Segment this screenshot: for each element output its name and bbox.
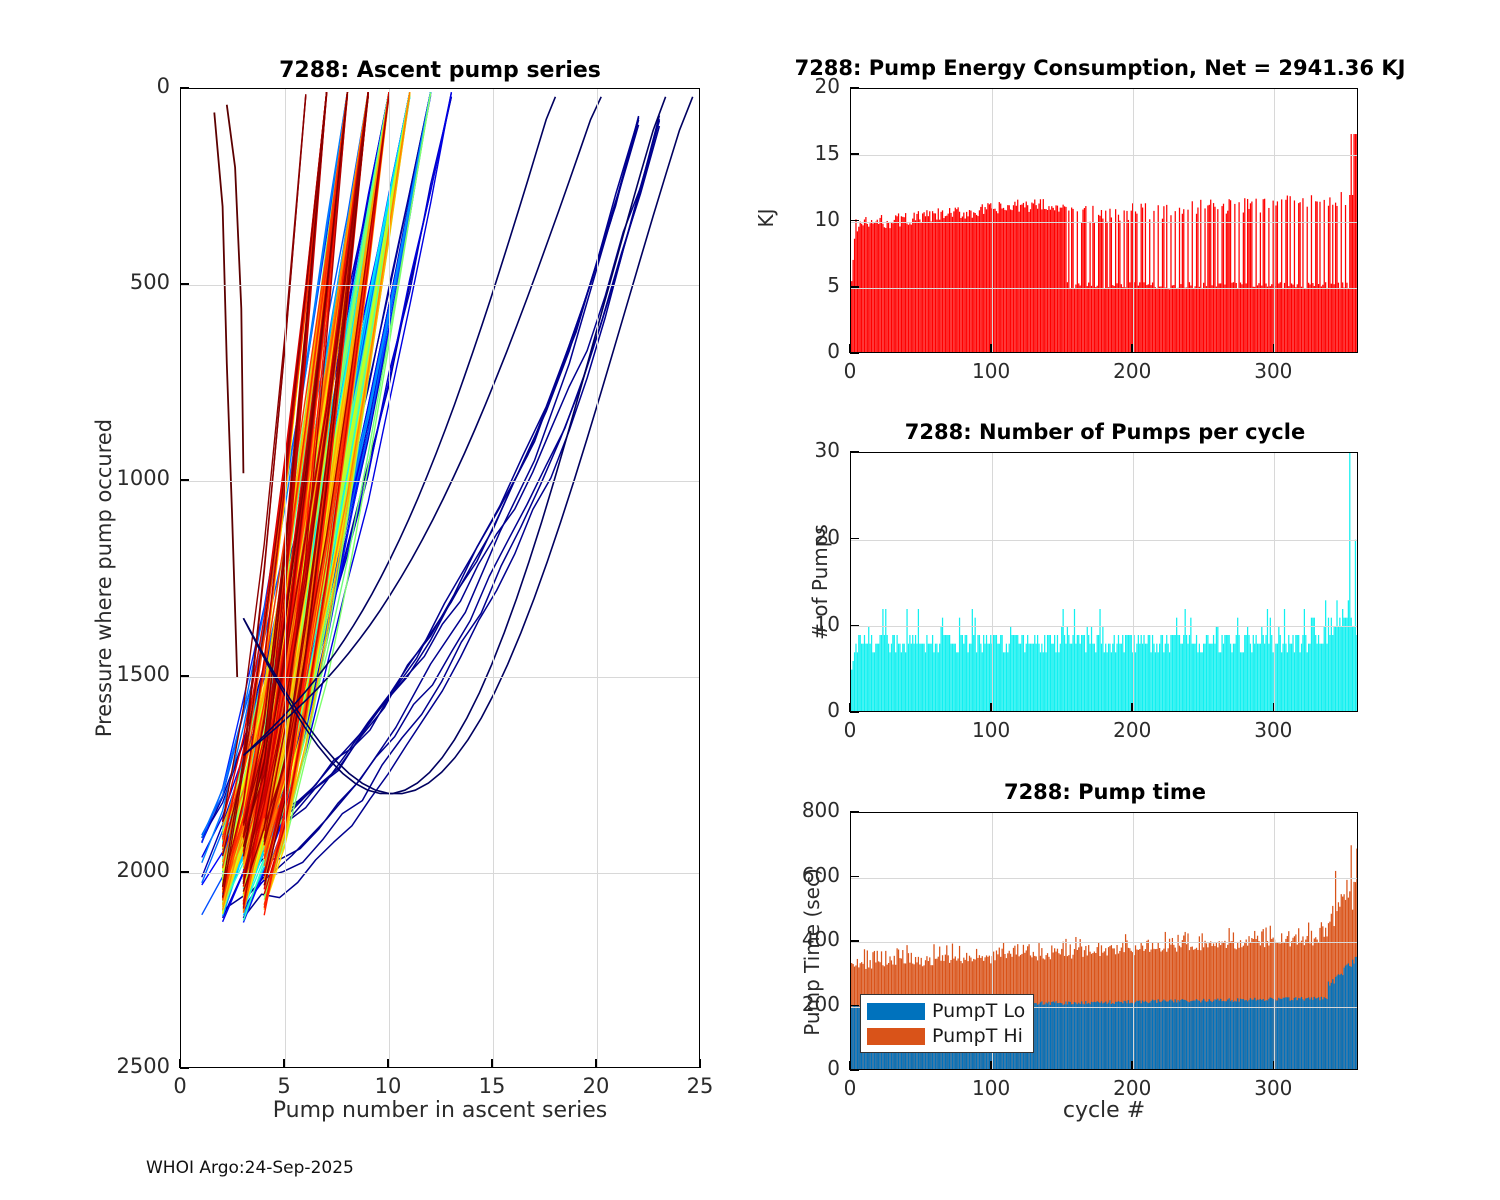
pumps-bar <box>1082 635 1083 712</box>
x-tick-mark <box>1273 703 1275 712</box>
energy-bar <box>1246 283 1247 353</box>
pumps-bar <box>1280 635 1281 712</box>
energy-bar <box>1142 208 1143 353</box>
ascent-x-axis-label: Pump number in ascent series <box>180 1098 700 1123</box>
energy-bar <box>1014 202 1015 353</box>
y-tick-label: 20 <box>810 525 840 549</box>
pumps-bar <box>1267 609 1268 712</box>
pumps-bar <box>1028 644 1029 712</box>
pumpt-lo-bar <box>1166 1002 1167 1070</box>
energy-bar <box>1027 205 1028 353</box>
pumpt-lo-bar <box>1241 999 1242 1070</box>
pumpt-lo-bar <box>1251 1000 1252 1070</box>
energy-bar <box>1294 200 1295 353</box>
pumpt-lo-bar <box>1267 1000 1268 1070</box>
pumpt-lo-bar <box>1160 1002 1161 1070</box>
pumps-bar <box>1169 652 1170 712</box>
legend-swatch-pumpt-hi <box>867 1028 925 1045</box>
pumpt-lo-bar <box>1291 1000 1292 1070</box>
gridline-horizontal <box>181 285 699 286</box>
energy-bar <box>1033 203 1034 353</box>
energy-bar <box>1112 285 1113 353</box>
energy-bar <box>928 216 929 353</box>
pumpt-lo-bar <box>1089 1004 1090 1070</box>
pumps-bar <box>999 644 1000 712</box>
pumps-bar <box>1302 635 1303 712</box>
energy-bar <box>1342 282 1343 353</box>
pumpt-lo-bar <box>1246 1000 1247 1070</box>
energy-bar <box>1149 219 1150 353</box>
pumps-bar <box>1077 635 1078 712</box>
pumps-bar <box>1209 644 1210 712</box>
energy-bar <box>908 225 909 353</box>
pumps-bar <box>1081 635 1082 712</box>
pumps-bar <box>1311 618 1312 712</box>
energy-bar <box>1158 205 1159 353</box>
energy-bar <box>857 231 858 353</box>
pumps-bar <box>1312 618 1313 712</box>
pumps-bar <box>851 670 852 712</box>
pumps-bar <box>1142 644 1143 712</box>
energy-bar <box>1227 211 1228 353</box>
pumps-bar <box>1182 644 1183 712</box>
pumps-bar <box>904 644 905 712</box>
pumps-bar <box>1055 652 1056 712</box>
pumps-bar <box>1325 600 1326 712</box>
energy-bar <box>1156 288 1157 353</box>
y-tick-mark <box>850 1069 859 1071</box>
energy-bar <box>1108 287 1109 353</box>
pumps-bar <box>1011 635 1012 712</box>
pumpt-lo-bar <box>1224 1001 1225 1070</box>
pumps-bar <box>1301 644 1302 712</box>
energy-bar <box>1267 287 1268 353</box>
energy-bar <box>1109 209 1110 353</box>
energy-bar <box>1168 288 1169 353</box>
pumpt-lo-bar <box>1299 998 1300 1070</box>
energy-bar <box>1028 212 1029 353</box>
pumpt-lo-bar <box>1206 1002 1207 1070</box>
pumpt-lo-bar <box>1183 1000 1184 1070</box>
energy-bar <box>1291 283 1292 353</box>
pumpt-lo-bar <box>1307 998 1308 1070</box>
energy-bar <box>1007 205 1008 353</box>
pumps-bar <box>1158 652 1159 712</box>
pumps-bar <box>972 609 973 712</box>
pumps-bar <box>1114 635 1115 712</box>
pumps-bar <box>1177 635 1178 712</box>
pumpt-lo-bar <box>1216 1000 1217 1070</box>
pumps-bar <box>1285 644 1286 712</box>
pumps-bar <box>976 652 977 712</box>
pumpt-lo-bar <box>1305 998 1306 1070</box>
energy-bar <box>942 210 943 353</box>
energy-bar <box>1097 286 1098 353</box>
energy-bar <box>1319 202 1320 353</box>
pumpt-lo-bar <box>1057 1003 1058 1070</box>
pumps-bar <box>1180 644 1181 712</box>
energy-bar <box>1209 205 1210 353</box>
gridline-vertical <box>493 89 494 1067</box>
pumps-bar <box>1108 644 1109 712</box>
energy-bar <box>1063 205 1064 353</box>
pumps-bar <box>1299 652 1300 712</box>
pumpt-lo-bar <box>1348 963 1349 1070</box>
pumps-bar <box>956 652 957 712</box>
pumpt-lo-bar <box>1168 1001 1169 1070</box>
gridline-horizontal <box>851 288 1357 289</box>
pumps-bar <box>1098 635 1099 712</box>
pumpt-lo-bar <box>1226 1001 1227 1070</box>
energy-bar <box>1078 283 1079 353</box>
pumpt-lo-bar <box>1351 967 1352 1070</box>
y-tick-mark <box>850 220 859 222</box>
pumpt-lo-bar <box>1107 1004 1108 1070</box>
legend-row: PumpT Lo <box>867 1000 1025 1022</box>
pumps-bar <box>1091 626 1092 712</box>
energy-bar <box>1129 282 1130 353</box>
pumpt-lo-bar <box>1175 999 1176 1070</box>
x-tick-label: 0 <box>800 1076 900 1100</box>
energy-bar <box>1138 286 1139 353</box>
energy-bar <box>1141 204 1142 353</box>
pumps-bar <box>1122 635 1123 712</box>
energy-bar <box>1186 287 1187 353</box>
x-tick-mark <box>283 1059 285 1068</box>
energy-bar <box>1023 203 1024 353</box>
energy-bar <box>1053 208 1054 353</box>
pumpt-lo-bar <box>1169 1000 1170 1070</box>
pumps-bar <box>932 635 933 712</box>
energy-bar <box>1019 212 1020 353</box>
energy-bar <box>1257 285 1258 353</box>
y-tick-label: 0 <box>106 74 170 98</box>
pumpt-lo-bar <box>1312 1000 1313 1070</box>
energy-bar <box>1206 286 1207 353</box>
pumpt-lo-bar <box>1238 1002 1239 1070</box>
pumps-bar <box>1068 635 1069 712</box>
energy-bar <box>1037 209 1038 353</box>
energy-bar <box>986 209 987 353</box>
pumps-bar <box>1203 644 1204 712</box>
pumps-bar <box>872 652 873 712</box>
pumps-bar <box>916 644 917 712</box>
gridline-vertical <box>1274 813 1275 1069</box>
pumps-bar <box>882 609 883 712</box>
pumpt-lo-bar <box>1290 1001 1291 1070</box>
pumps-bar <box>1217 626 1218 712</box>
y-tick-mark <box>850 286 859 288</box>
energy-bar <box>1009 205 1010 353</box>
pumps-bar <box>949 635 950 712</box>
pumps-bar <box>1335 626 1336 712</box>
energy-bar <box>979 210 980 353</box>
pumps-bar <box>1268 644 1269 712</box>
energy-bar <box>1064 206 1065 353</box>
pumps-bar <box>885 609 886 712</box>
pumps-bar <box>1219 652 1220 712</box>
pumpt-lo-bar <box>1162 1001 1163 1070</box>
pumpt-lo-bar <box>1304 1001 1305 1070</box>
pumps-bar <box>1060 644 1061 712</box>
pumps-bar <box>906 609 907 712</box>
pumps-bar <box>1148 635 1149 712</box>
energy-bar <box>864 220 865 354</box>
pumpt-lo-bar <box>1250 998 1251 1070</box>
y-tick-label: 30 <box>810 438 840 462</box>
pumpt-lo-bar <box>1345 966 1346 1070</box>
x-tick-label: 300 <box>1223 1076 1323 1100</box>
energy-bar <box>1180 284 1181 353</box>
pumps-bar <box>875 644 876 712</box>
energy-bar <box>1312 283 1313 353</box>
pumpt-lo-bar <box>1109 1000 1110 1070</box>
energy-bar <box>1311 195 1312 353</box>
energy-bar <box>960 218 961 353</box>
pumpt-lo-bar <box>1094 1002 1095 1070</box>
pumps-bar <box>1223 644 1224 712</box>
pumpt-lo-bar <box>1264 1001 1265 1070</box>
pumps-bar <box>1216 626 1217 712</box>
pumpt-lo-bar <box>1060 1003 1061 1070</box>
energy-bar <box>1021 205 1022 353</box>
x-tick-mark <box>849 344 851 353</box>
energy-bar <box>1200 200 1201 353</box>
x-tick-label: 0 <box>800 359 900 383</box>
pumpt-lo-bar <box>1038 1004 1039 1070</box>
energy-bar <box>922 213 923 353</box>
pumpt-lo-bar <box>1236 1001 1237 1070</box>
energy-bar <box>984 207 985 353</box>
pumpt-lo-bar <box>1355 957 1356 1070</box>
pumpt-lo-bar <box>1315 998 1316 1070</box>
pumps-bar <box>1153 644 1154 712</box>
energy-bar <box>987 203 988 353</box>
energy-bar <box>950 213 951 353</box>
pumps-bar <box>881 635 882 712</box>
pumpt-lo-bar <box>1185 1000 1186 1070</box>
energy-bar <box>963 213 964 353</box>
energy-bar <box>1338 283 1339 353</box>
pumps-bar <box>1092 644 1093 712</box>
pumps-bar <box>965 635 966 712</box>
energy-bar <box>1054 210 1055 353</box>
energy-bar <box>983 214 984 353</box>
pumps-bar <box>1261 626 1262 712</box>
energy-bar <box>1326 289 1327 353</box>
x-tick-label: 200 <box>1082 718 1182 742</box>
pumps-bar <box>1053 644 1054 712</box>
energy-bar <box>1321 286 1322 353</box>
ascent-panel-title: 7288: Ascent pump series <box>180 58 700 83</box>
energy-bar <box>923 212 924 353</box>
energy-bar <box>1278 284 1279 354</box>
pumps-plot-area[interactable] <box>850 452 1358 712</box>
pumpt-lo-bar <box>1092 1002 1093 1070</box>
pumps-bar <box>1067 626 1068 712</box>
pumpt-lo-bar <box>1037 1005 1038 1070</box>
pumps-bar <box>1094 644 1095 712</box>
pumpt-lo-bar <box>1328 982 1329 1070</box>
pumps-bar <box>1089 644 1090 712</box>
pumpt-lo-bar <box>1294 998 1295 1070</box>
pumps-bar <box>1291 644 1292 712</box>
gridline-vertical <box>389 89 390 1067</box>
pumps-bar <box>1339 618 1340 712</box>
pumps-bar <box>986 635 987 712</box>
energy-bar <box>1111 217 1112 353</box>
pumpt-lo-bar <box>1192 1001 1193 1070</box>
pumps-bar <box>1202 652 1203 712</box>
pumps-bar <box>1033 644 1034 712</box>
x-tick-mark <box>990 703 992 712</box>
energy-bar <box>975 213 976 353</box>
pumps-bar <box>935 644 936 712</box>
pumps-bar <box>1179 635 1180 712</box>
energy-bar <box>1346 283 1347 353</box>
pumpt-lo-bar <box>1324 997 1325 1070</box>
pumpt-lo-bar <box>1152 1000 1153 1070</box>
energy-bar <box>943 218 944 353</box>
pumps-bar <box>1241 652 1242 712</box>
energy-bar <box>1288 286 1289 353</box>
pumpt-lo-bar <box>1074 1002 1075 1070</box>
pumpt-lo-bar <box>1256 1001 1257 1071</box>
pumps-bar <box>1146 644 1147 712</box>
pumps-bar <box>950 644 951 712</box>
pumpt-lo-bar <box>1240 999 1241 1070</box>
pumps-bar <box>1014 635 1015 712</box>
pumps-bar <box>1065 644 1066 712</box>
energy-bar <box>1159 287 1160 353</box>
pumpt-lo-bar <box>1145 1001 1146 1070</box>
energy-bar <box>1194 286 1195 353</box>
energy-bar <box>1210 200 1211 353</box>
legend-label: PumpT Lo <box>932 1000 1025 1022</box>
pumps-bar <box>1170 635 1171 712</box>
energy-bar <box>1072 209 1073 353</box>
pumpt-lo-bar <box>1138 1001 1139 1070</box>
pumpt-lo-bar <box>1244 1000 1245 1070</box>
pumpt-lo-bar <box>1270 998 1271 1070</box>
pumpt-lo-bar <box>1165 1001 1166 1070</box>
pumps-bar <box>1058 652 1059 712</box>
x-tick-mark <box>179 1059 181 1068</box>
energy-bar <box>997 213 998 353</box>
pumpt-lo-bar <box>1186 1001 1187 1070</box>
pumps-bar <box>1135 652 1136 712</box>
pumps-bar <box>1131 635 1132 712</box>
pumps-bar <box>1305 635 1306 712</box>
energy-bar <box>868 227 869 353</box>
pumpt-lo-bar <box>857 1006 858 1070</box>
pumpt-lo-bar <box>1229 998 1230 1070</box>
pumps-bar <box>983 635 984 712</box>
energy-bar <box>946 216 947 353</box>
pumpt-lo-bar <box>1115 1002 1116 1070</box>
pumps-bar <box>1109 644 1110 712</box>
pumptime-legend: PumpT LoPumpT Hi <box>860 994 1034 1053</box>
pumps-bar <box>1095 652 1096 712</box>
energy-bar <box>1248 209 1249 353</box>
pumps-bar <box>1338 626 1339 712</box>
pumpt-lo-bar <box>1332 979 1333 1070</box>
pumps-bar <box>1121 644 1122 712</box>
energy-bar <box>1055 205 1056 353</box>
pumps-bar <box>1084 635 1085 712</box>
pumps-bar <box>899 644 900 712</box>
energy-bar <box>1290 196 1291 353</box>
energy-bar <box>932 211 933 353</box>
energy-bar <box>939 220 940 353</box>
pumps-bar <box>1034 635 1035 712</box>
pumps-bar <box>1248 635 1249 712</box>
pumps-bar <box>1136 644 1137 712</box>
y-tick-mark <box>850 451 859 453</box>
pumpt-lo-bar <box>1104 1003 1105 1070</box>
y-tick-mark <box>850 87 859 89</box>
pumps-bar <box>871 635 872 712</box>
pumps-bar <box>933 652 934 712</box>
pumps-bar <box>1329 635 1330 712</box>
pumps-bar <box>1036 644 1037 712</box>
pumps-bar <box>1037 635 1038 712</box>
pumps-bar <box>1115 652 1116 712</box>
pumps-bar <box>936 644 937 712</box>
pumps-bar <box>987 644 988 712</box>
energy-bar <box>1082 210 1083 353</box>
energy-bar <box>1261 286 1262 353</box>
energy-bar <box>1016 206 1017 353</box>
energy-bar <box>1275 205 1276 353</box>
energy-bar <box>1339 288 1340 353</box>
pumpt-lo-bar <box>1071 1004 1072 1070</box>
energy-bar <box>1067 282 1068 353</box>
energy-bar <box>1336 206 1337 353</box>
pumpt-lo-bar <box>1055 1001 1056 1070</box>
pumps-bar <box>1214 644 1215 712</box>
pumps-bar <box>1254 644 1255 712</box>
pumpt-lo-bar <box>1302 999 1303 1070</box>
energy-bar <box>1224 285 1225 353</box>
pumpt-lo-bar <box>1353 964 1354 1070</box>
legend-row: PumpT Hi <box>867 1025 1025 1047</box>
pumps-bar <box>1250 644 1251 712</box>
pumps-bar <box>1297 635 1298 712</box>
energy-bar <box>1013 205 1014 353</box>
pumps-bar <box>1116 644 1117 712</box>
pumpt-lo-bar <box>1203 999 1204 1070</box>
pumps-bar <box>1194 644 1195 712</box>
y-tick-mark <box>180 283 189 285</box>
x-tick-mark <box>849 703 851 712</box>
energy-bar <box>1236 283 1237 353</box>
energy-bar <box>1148 284 1149 353</box>
pumps-bar <box>943 635 944 712</box>
energy-bar <box>1143 282 1144 353</box>
energy-bar <box>1050 210 1051 353</box>
energy-bar <box>919 219 920 353</box>
pumpt-lo-bar <box>1097 1001 1098 1070</box>
energy-plot-area[interactable] <box>850 88 1358 353</box>
pumps-bar <box>1107 652 1108 712</box>
pumps-bar <box>901 652 902 712</box>
pumps-bar <box>1030 644 1031 712</box>
pumps-bar <box>977 635 978 712</box>
pumps-bar <box>959 618 960 712</box>
energy-bar <box>1270 286 1271 353</box>
ascent-plot-area[interactable] <box>180 88 700 1068</box>
